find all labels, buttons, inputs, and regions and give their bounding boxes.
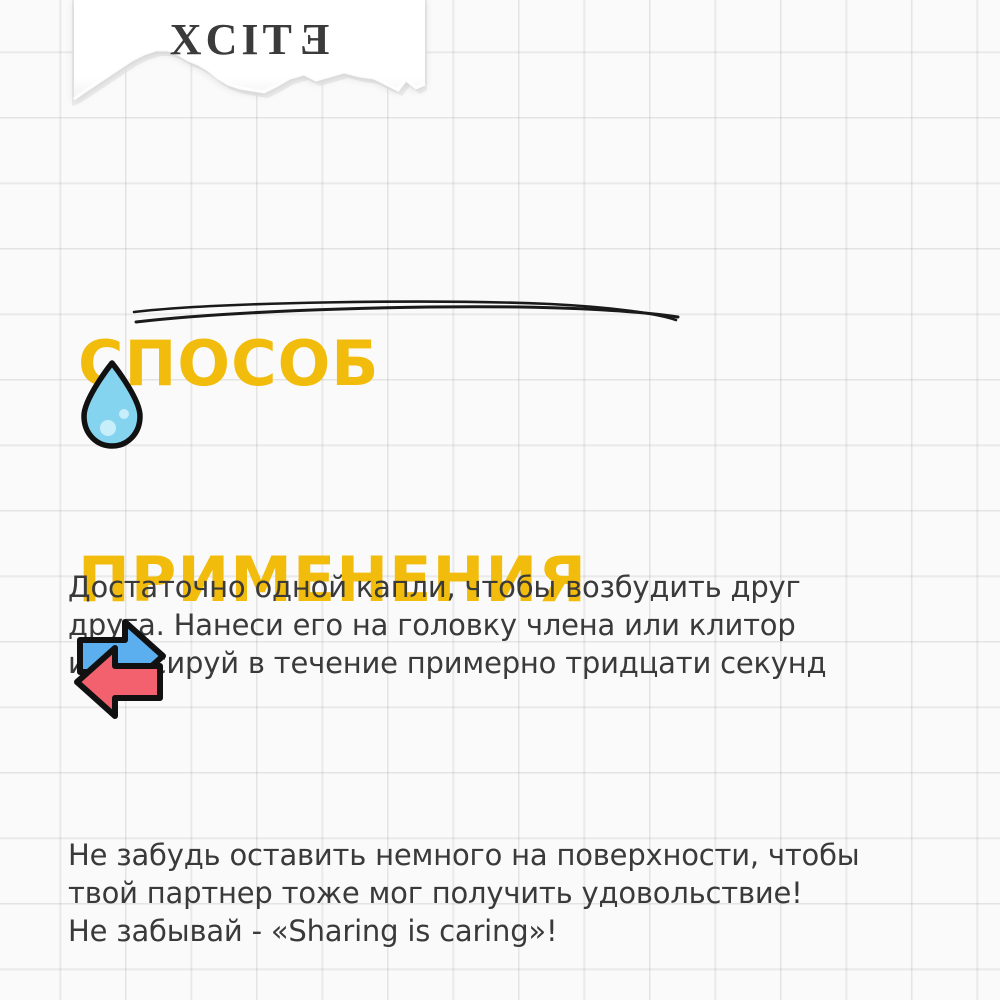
droplet-highlight-small (119, 409, 129, 419)
brand-logo-reversed-e: E (296, 18, 329, 62)
instruction-text-2: Не забудь оставить немного на поверхност… (68, 836, 859, 950)
brand-logo-text: XCIT (170, 15, 296, 64)
underline-stroke-lower (136, 307, 678, 322)
poster-canvas: XCITE СПОСОБ ПРИМЕНЕНИЯ Достаточно одной… (0, 0, 1000, 1000)
brand-logo: XCITE (72, 18, 427, 62)
arrows-exchange-icon (68, 618, 859, 718)
droplet-icon (68, 356, 826, 452)
hand-drawn-underline (130, 296, 680, 332)
torn-paper-strip: XCITE (72, 0, 427, 116)
droplet-highlight-large (100, 420, 116, 436)
instruction-block-2: Не забудь оставить немного на поверхност… (68, 618, 859, 950)
